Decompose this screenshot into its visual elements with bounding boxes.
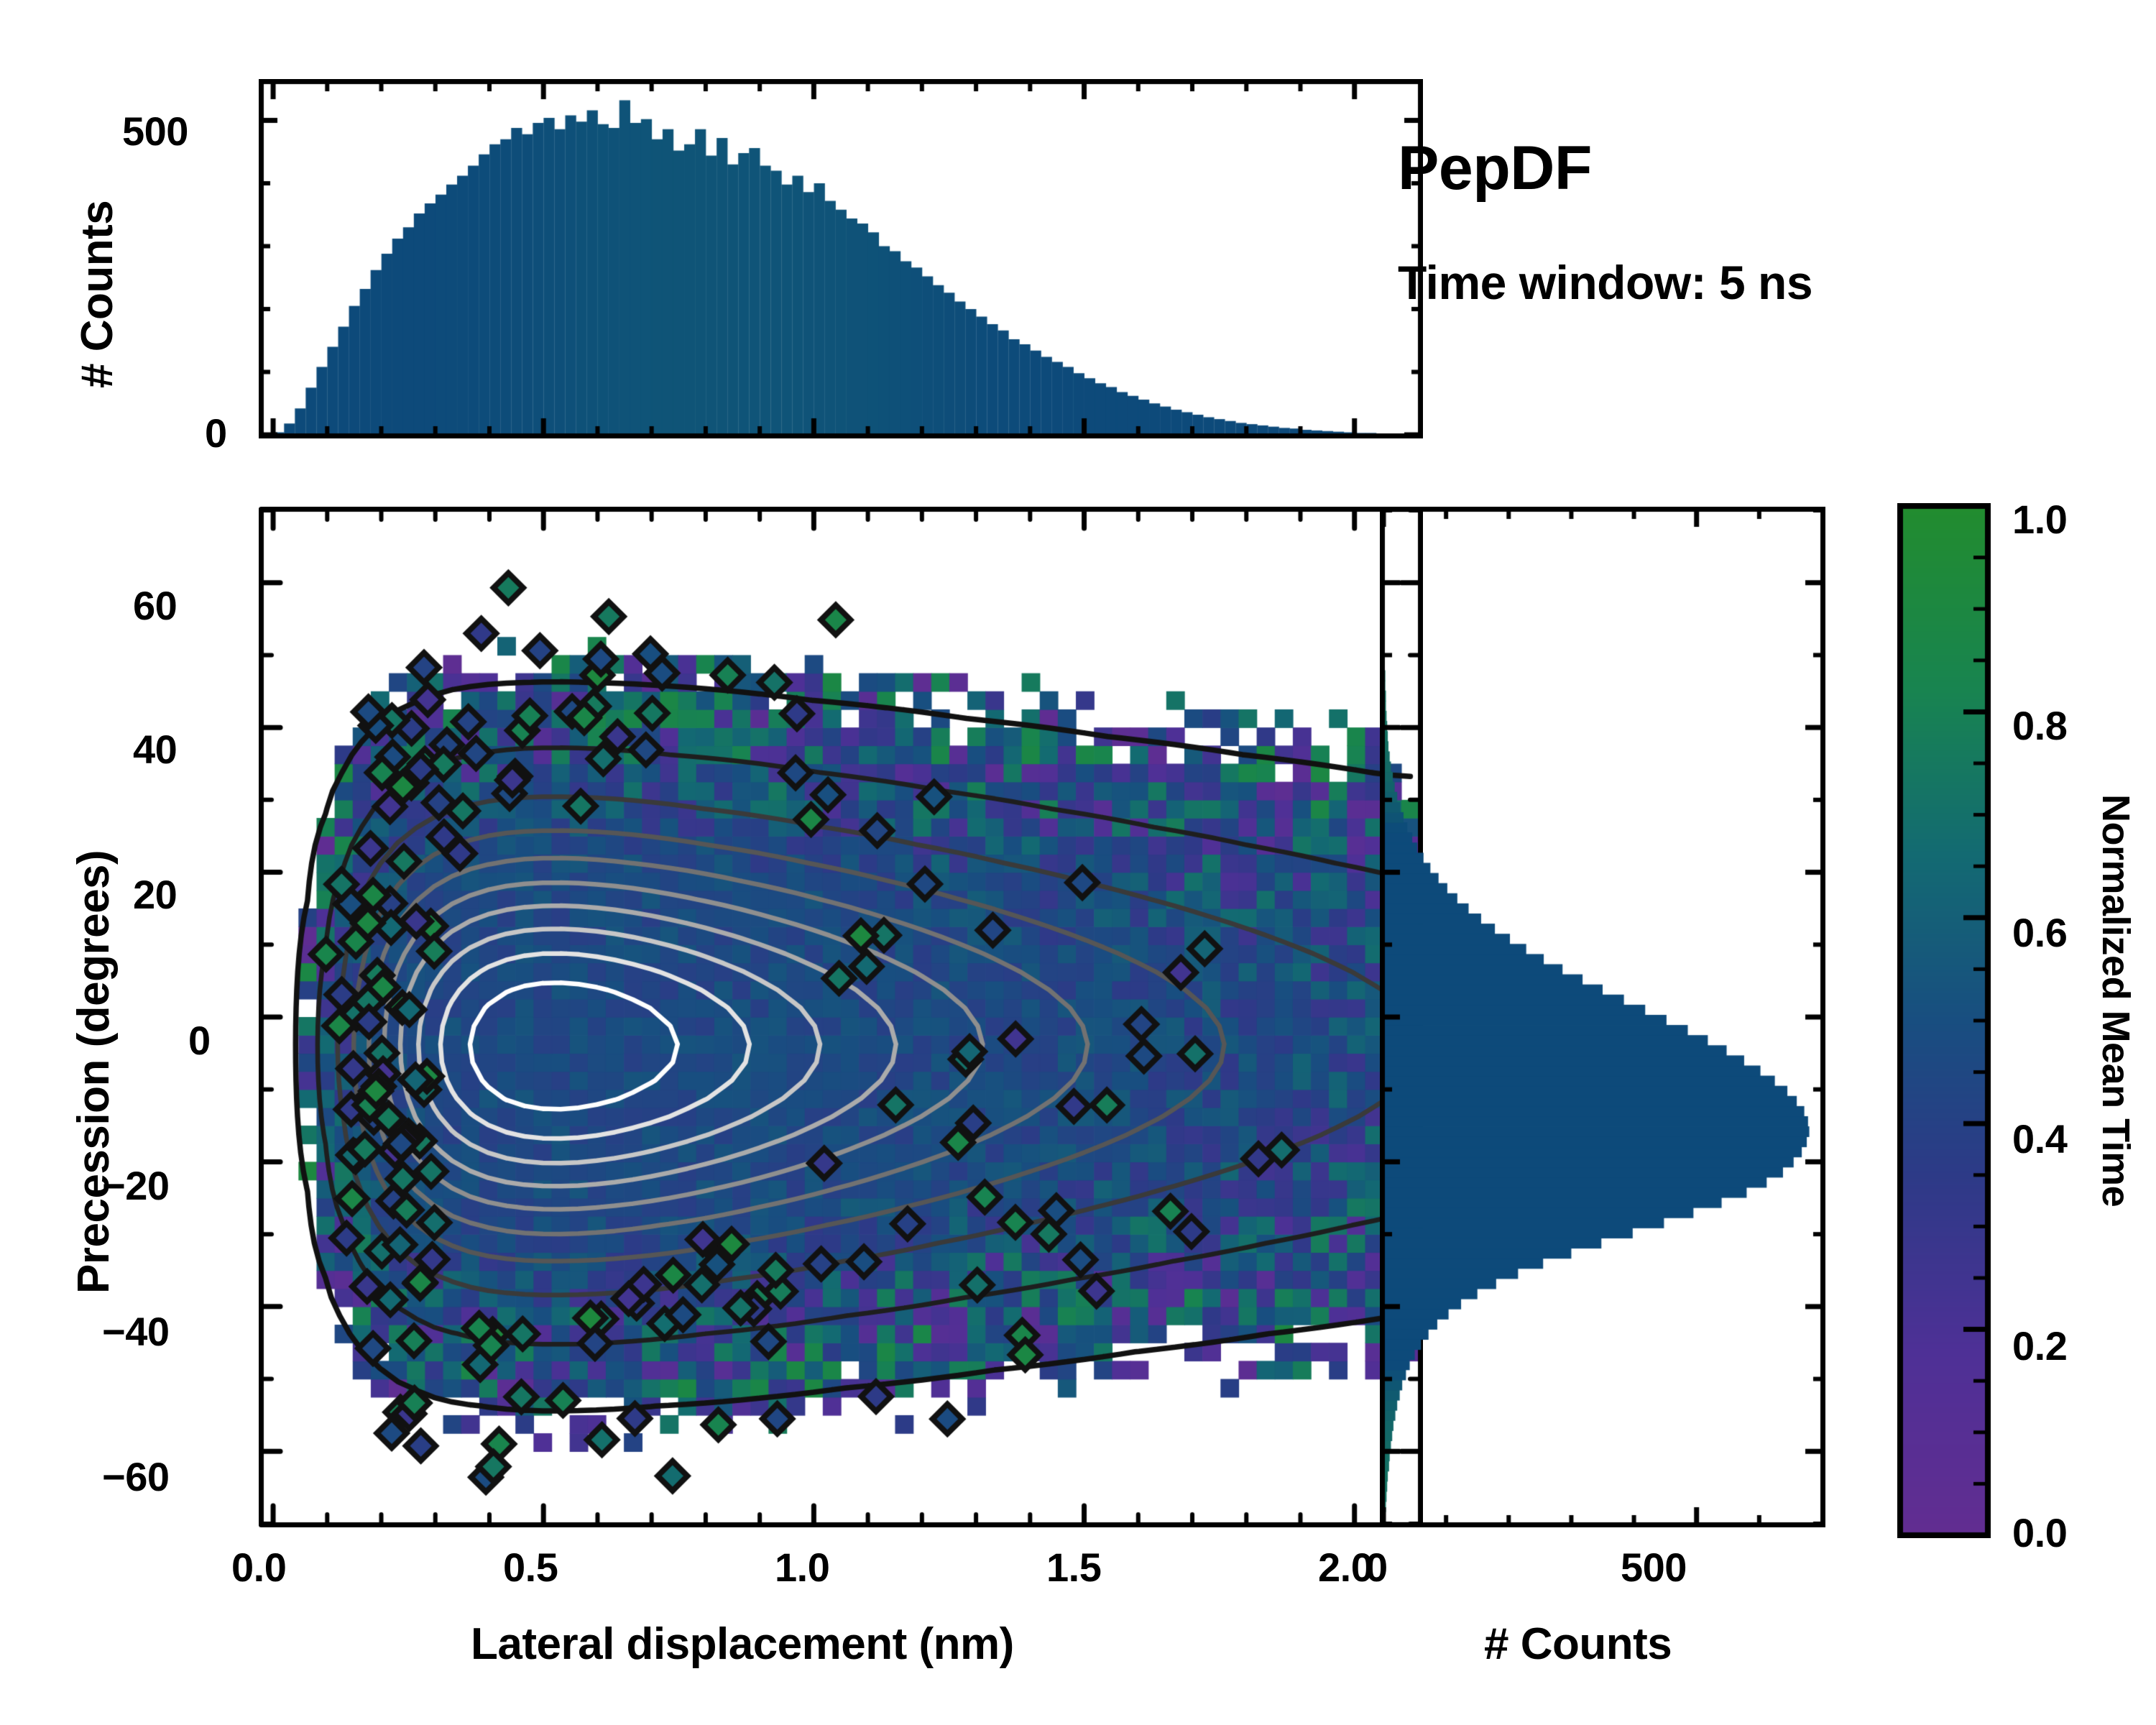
- colorbar-tick-0.2: 0.2: [2012, 1322, 2067, 1369]
- right-xtick-500: 500: [1621, 1544, 1687, 1591]
- right-xtick-0: 0: [1365, 1544, 1388, 1591]
- right-marginal-histogram-canvas: [1380, 507, 1825, 1527]
- main-xtick-2.0: 2.0: [1318, 1544, 1373, 1591]
- main-2d-histogram-canvas: [259, 507, 1423, 1527]
- colorbar-tick-0.0: 0.0: [2012, 1509, 2067, 1556]
- colorbar-canvas: [1897, 503, 1991, 1538]
- main-xtick-0.5: 0.5: [503, 1544, 558, 1591]
- main-ytick-60: 60: [133, 582, 177, 629]
- main-ytick-minus60: −60: [102, 1453, 170, 1500]
- right-panel-xlabel: # Counts: [1484, 1619, 1672, 1670]
- top-ytick-0: 0: [205, 410, 227, 456]
- main-ytick-minus40: −40: [102, 1308, 170, 1355]
- main-panel-xlabel: Lateral displacement (nm): [471, 1619, 1014, 1670]
- colorbar-tick-0.4: 0.4: [2012, 1115, 2067, 1162]
- top-panel-ylabel: # Counts: [72, 201, 123, 388]
- figure-subtitle: Time window: 5 ns: [1398, 255, 1812, 310]
- top-marginal-histogram-canvas: [259, 79, 1423, 438]
- colorbar-tick-0.8: 0.8: [2012, 702, 2067, 749]
- main-ytick-0: 0: [188, 1017, 211, 1064]
- figure-title: PepDF: [1398, 133, 1592, 204]
- main-xtick-0.0: 0.0: [231, 1544, 286, 1591]
- main-ytick-40: 40: [133, 726, 177, 773]
- colorbar-tick-1.0: 1.0: [2012, 496, 2067, 543]
- top-ytick-500: 500: [122, 108, 188, 155]
- main-panel-ylabel: Precession (degrees): [68, 850, 119, 1294]
- colorbar-label: Normalized Mean Time: [2093, 794, 2138, 1207]
- colorbar-tick-0.6: 0.6: [2012, 909, 2067, 956]
- figure-root: 500 0 # Counts PepDF Time window: 5 ns 6…: [0, 0, 2156, 1725]
- main-ytick-20: 20: [133, 871, 177, 918]
- main-xtick-1.5: 1.5: [1046, 1544, 1101, 1591]
- main-xtick-1.0: 1.0: [775, 1544, 829, 1591]
